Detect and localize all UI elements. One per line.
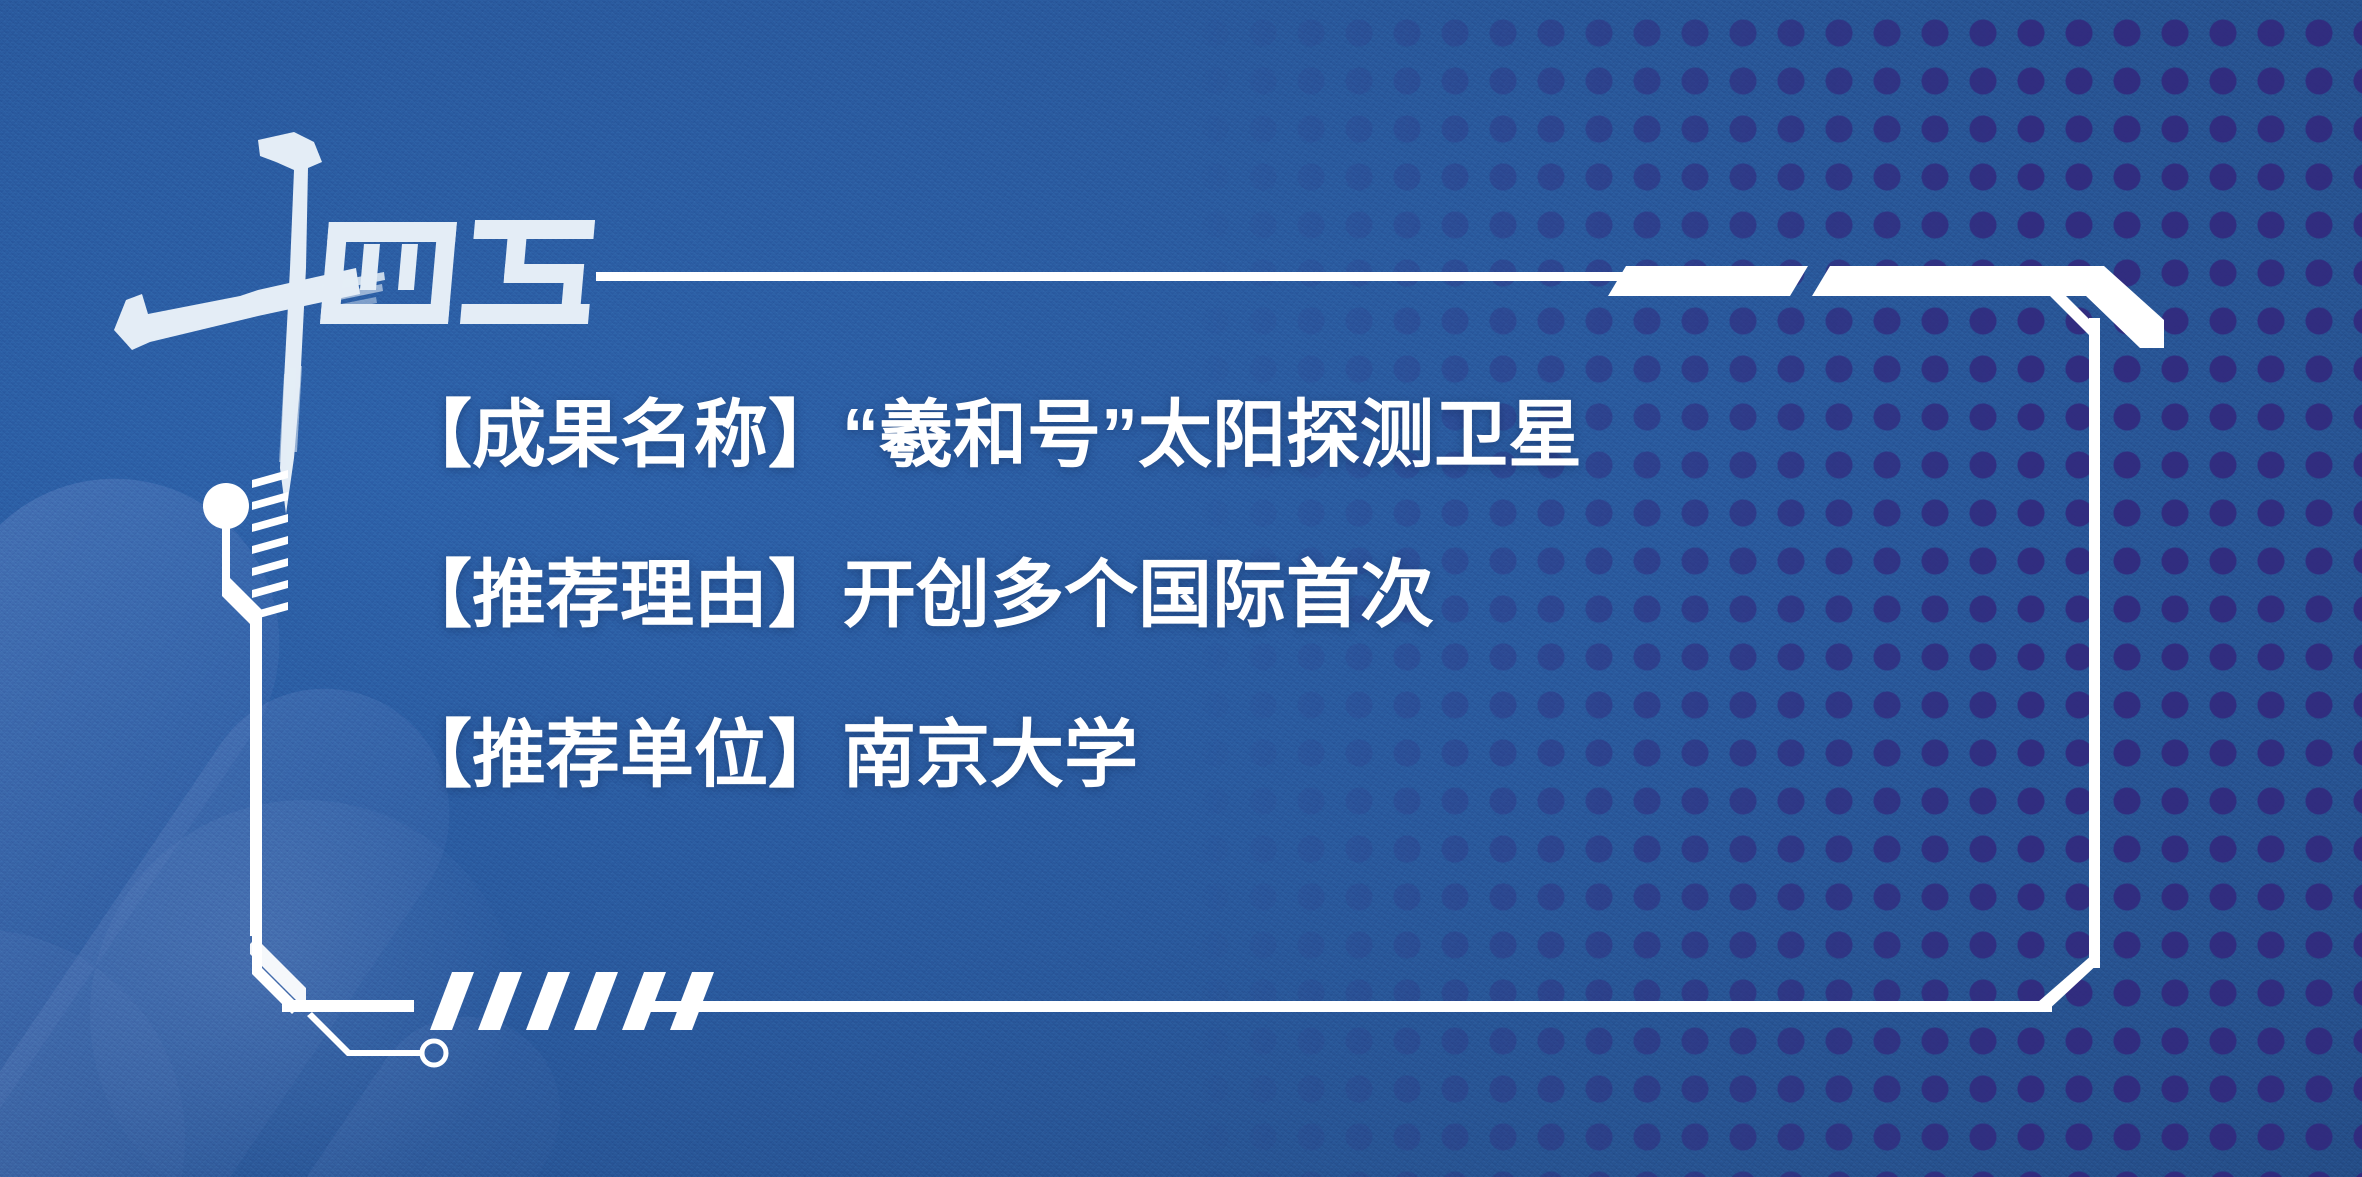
- line-value: 开创多个国际首次: [842, 553, 1434, 636]
- line-label: 【推荐理由】: [398, 553, 842, 636]
- line-label: 【推荐单位】: [398, 713, 842, 796]
- content-text-block: 【成果名称】“羲和号”太阳探测卫星 【推荐理由】开创多个国际首次 【推荐单位】南…: [398, 398, 1878, 792]
- content-line-recommendation-reason: 【推荐理由】开创多个国际首次: [398, 558, 1878, 632]
- line-value: 南京大学: [842, 713, 1138, 796]
- logo-character-wu-icon: [460, 220, 597, 324]
- content-line-achievement-name: 【成果名称】“羲和号”太阳探测卫星: [398, 398, 1878, 472]
- line-label: 【成果名称】: [398, 393, 842, 476]
- logo-character-si-icon: [320, 222, 457, 324]
- poster-canvas: 【成果名称】“羲和号”太阳探测卫星 【推荐理由】开创多个国际首次 【推荐单位】南…: [0, 0, 2362, 1177]
- line-value: “羲和号”太阳探测卫星: [842, 393, 1582, 476]
- content-line-recommending-institution: 【推荐单位】南京大学: [398, 718, 1878, 792]
